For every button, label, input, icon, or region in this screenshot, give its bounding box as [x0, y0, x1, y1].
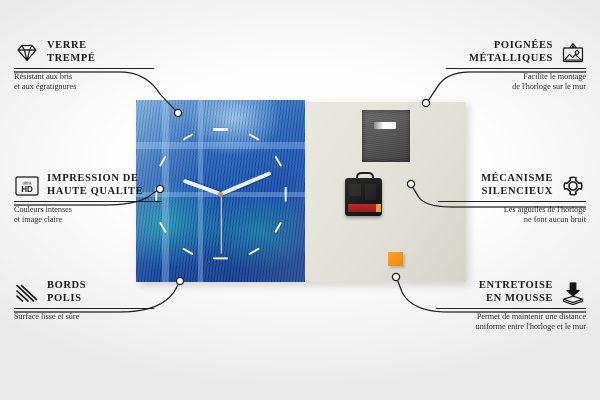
diamond-icon [14, 41, 40, 65]
hanger-slot [374, 122, 396, 129]
callout-subtitle: Facilite le montage de l'horloge sur le … [446, 72, 586, 92]
callout-subtitle: Les aiguilles de l'horloge ne font aucun… [438, 205, 586, 225]
clock-tick [213, 257, 228, 259]
callout-subtitle: Surface lisse et sûre [14, 312, 154, 322]
callout-head: ultra HD IMPRESSION DE HAUTE QUALITÉ [14, 173, 162, 198]
callout-divider [14, 201, 162, 202]
callout-title: IMPRESSION DE HAUTE QUALITÉ [47, 173, 143, 198]
clock-mechanism [345, 178, 382, 216]
callout-divider [436, 308, 586, 309]
feature-callout-entretoise-en-mousse: ENTRETOISE EN MOUSSE Permet de maintenir… [436, 280, 586, 332]
callout-subtitle: Permet de maintenir une distance uniform… [436, 312, 586, 332]
callout-subtitle: Résistant aux bris et aux égratignures [14, 72, 154, 92]
callout-head: VERRE TREMPÉ [14, 40, 154, 65]
foam-spacer [388, 252, 403, 266]
svg-text:HD: HD [21, 185, 33, 194]
clock-second-hand [220, 194, 221, 254]
clock-hand-cap [218, 192, 223, 197]
battery [348, 204, 378, 212]
callout-subtitle: Couleurs intenses et image claire [14, 205, 162, 225]
product-photo [136, 100, 466, 282]
callout-title: POIGNÉES MÉTALLIQUES [469, 40, 553, 65]
picture-hanger-icon [560, 41, 586, 65]
foam-spacer-icon [560, 281, 586, 305]
callout-head: POIGNÉES MÉTALLIQUES [446, 40, 586, 65]
callout-head: BORDS POLIS [14, 280, 154, 305]
callout-head: MÉCANISME SILENCIEUX [438, 173, 586, 198]
feature-callout-impression-hd: ultra HD IMPRESSION DE HAUTE QUALITÉ Cou… [14, 173, 162, 225]
polished-edges-icon [14, 281, 40, 305]
callout-divider [438, 201, 586, 202]
feature-callout-bords-polis: BORDS POLIS Surface lisse et sûre [14, 280, 154, 322]
infographic-canvas: VERRE TREMPÉ Résistant aux bris et aux é… [0, 0, 600, 400]
mechanism-hook [356, 172, 374, 182]
feature-callout-poignees-metalliques: POIGNÉES MÉTALLIQUES Facilite le montage… [446, 40, 586, 92]
feature-callout-mecanisme-silencieux: MÉCANISME SILENCIEUX Les aiguilles de l'… [438, 173, 586, 225]
mechanism-detail [365, 184, 376, 200]
mechanism-detail [349, 184, 361, 196]
battery-terminal [376, 204, 381, 212]
callout-title: ENTRETOISE EN MOUSSE [479, 280, 553, 305]
callout-divider [14, 68, 154, 69]
gear-icon [560, 174, 586, 198]
panel-edge-highlight [305, 100, 466, 102]
callout-title: BORDS POLIS [47, 280, 86, 305]
ultra-hd-icon: ultra HD [14, 174, 40, 198]
callout-title: VERRE TREMPÉ [47, 40, 96, 65]
callout-head: ENTRETOISE EN MOUSSE [436, 280, 586, 305]
callout-divider [446, 68, 586, 69]
metal-hanger-plate [362, 110, 410, 162]
clock-tick [284, 186, 286, 201]
callout-divider [14, 308, 154, 309]
callout-title: MÉCANISME SILENCIEUX [481, 173, 553, 198]
feature-callout-verre-trempe: VERRE TREMPÉ Résistant aux bris et aux é… [14, 40, 154, 92]
